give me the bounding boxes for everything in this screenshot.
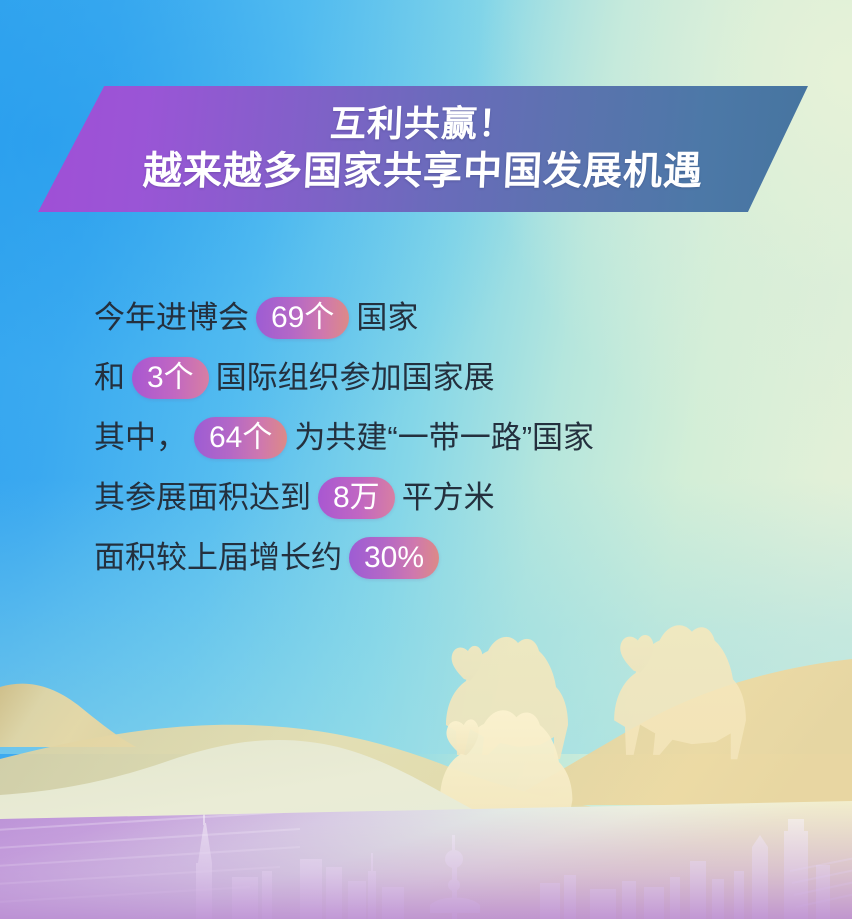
- fact-text: 国际组织参加国家展: [216, 348, 495, 408]
- fact-text: 今年进博会: [94, 288, 249, 348]
- facts-list: 今年进博会69个国家和3个国际组织参加国家展其中，64个为共建“一带一路”国家其…: [94, 288, 794, 588]
- stat-pill: 64个: [194, 417, 287, 459]
- fact-text: 面积较上届增长约: [94, 528, 342, 588]
- fact-exhibit-area: 其参展面积达到8万平方米: [94, 468, 794, 528]
- title-banner: 互利共赢！ 越来越多国家共享中国发展机遇: [38, 86, 808, 212]
- fact-text: 其中，: [94, 408, 187, 468]
- fact-text: 为共建“一带一路”国家: [294, 408, 594, 468]
- fact-belt-and-road: 其中，64个为共建“一带一路”国家: [94, 408, 794, 468]
- fact-text: 和: [94, 348, 125, 408]
- fact-growth: 面积较上届增长约30%: [94, 528, 794, 588]
- banner-title-line-1: 互利共赢！: [330, 102, 517, 146]
- stat-pill: 3个: [132, 357, 209, 399]
- stat-pill: 30%: [349, 537, 439, 579]
- fact-organizations: 和3个国际组织参加国家展: [94, 348, 794, 408]
- fact-text: 其参展面积达到: [94, 468, 311, 528]
- infographic-poster: 互利共赢！ 越来越多国家共享中国发展机遇 今年进博会69个国家和3个国际组织参加…: [0, 0, 852, 919]
- fact-text: 平方米: [402, 468, 495, 528]
- stat-pill: 8万: [318, 477, 395, 519]
- fact-text: 国家: [356, 288, 418, 348]
- fact-countries: 今年进博会69个国家: [94, 288, 794, 348]
- banner-title-line-2: 越来越多国家共享中国发展机遇: [142, 148, 704, 196]
- city-skyline-band: [0, 801, 852, 919]
- stat-pill: 69个: [256, 297, 349, 339]
